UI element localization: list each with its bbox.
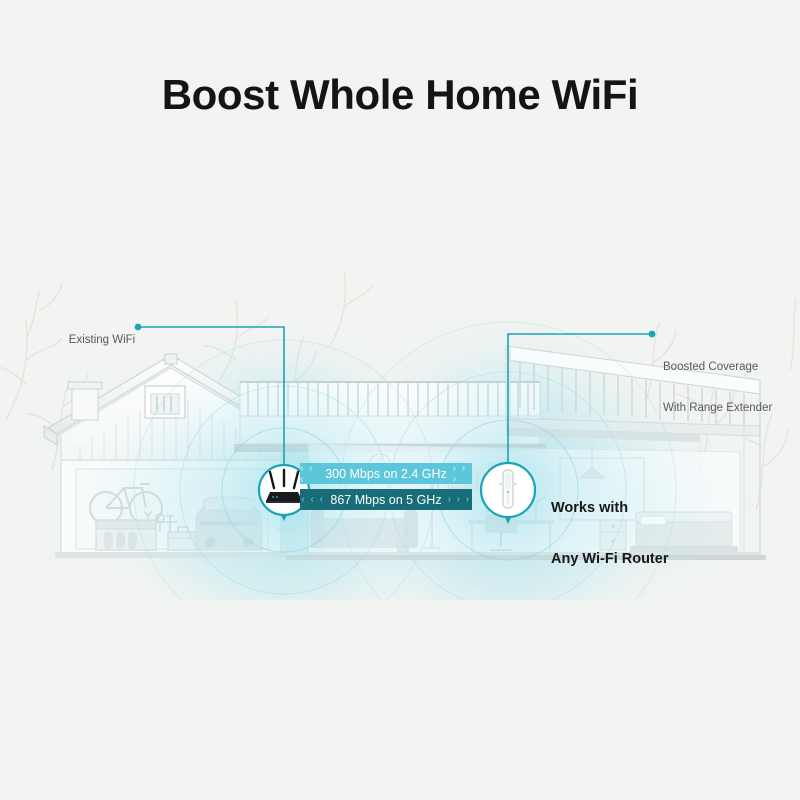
chevrons-left-5ghz: ‹ ‹ ‹ [301, 494, 324, 505]
speed-label-5ghz: 867 Mbps on 5 GHz [330, 493, 441, 507]
chevrons-right-2-4ghz: › › › [453, 463, 472, 485]
works-with-label: Works with Any Wi-Fi Router [551, 466, 668, 602]
speed-label-2-4ghz: 300 Mbps on 2.4 GHz [325, 467, 447, 481]
chevrons-right-5ghz: › › › [448, 494, 471, 505]
illustration-canvas: Boost Whole Home WiFi [0, 0, 800, 800]
callout-boosted-coverage: Boosted Coverage With Range Extender [663, 334, 772, 442]
existing-wifi-dot [135, 324, 142, 331]
chevrons-left-2-4ghz: ‹ ‹ ‹ [300, 463, 319, 485]
speed-bar-2-4ghz: ‹ ‹ ‹ 300 Mbps on 2.4 GHz › › › [300, 463, 472, 484]
speed-bar-5ghz: ‹ ‹ ‹ 867 Mbps on 5 GHz › › › [300, 489, 472, 510]
boosted-coverage-label-line2: With Range Extender [663, 402, 772, 416]
works-with-line1: Works with [551, 500, 668, 517]
callout-existing-wifi: Existing WiFi [56, 320, 135, 361]
page-title: Boost Whole Home WiFi [0, 74, 800, 116]
existing-wifi-label: Existing WiFi [69, 334, 135, 346]
boosted-coverage-label-line1: Boosted Coverage [663, 361, 772, 375]
boosted-coverage-dot [649, 331, 656, 338]
works-with-line2: Any Wi-Fi Router [551, 551, 668, 568]
